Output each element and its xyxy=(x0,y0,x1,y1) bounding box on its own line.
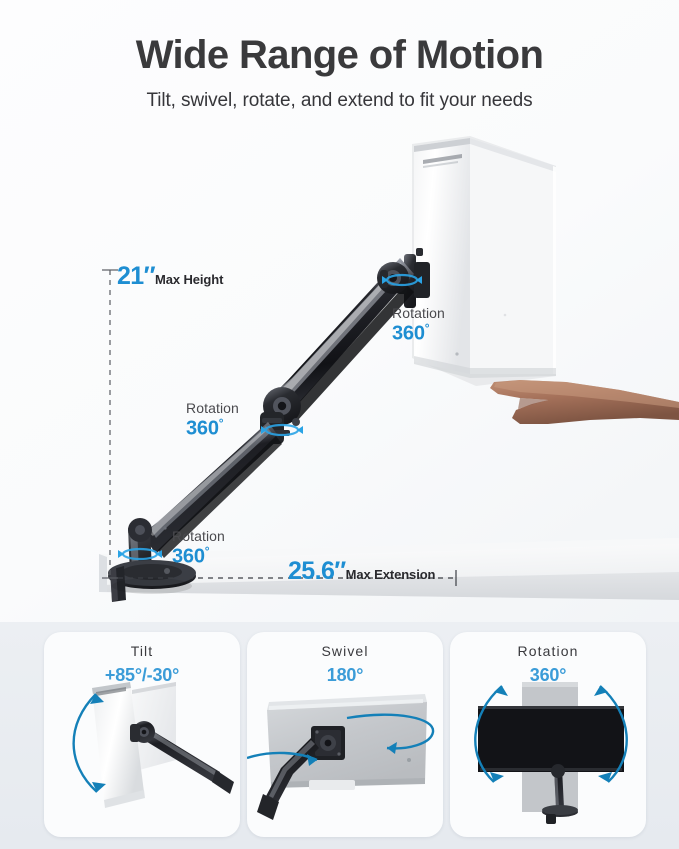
height-dimension-line xyxy=(102,270,118,578)
product-infographic: Wide Range of Motion Tilt, swivel, rotat… xyxy=(0,0,679,849)
callout-value: 360° xyxy=(172,545,225,567)
tilt-illustration xyxy=(44,632,240,837)
supporting-hand xyxy=(490,380,679,424)
callout-label: Rotation xyxy=(392,306,445,320)
callout-rotation-vesa: Rotation 360° xyxy=(392,306,445,344)
feature-card-tilt[interactable]: Tilt +85°/-30° xyxy=(44,632,240,837)
max-extension-quote: ″ xyxy=(334,557,345,585)
max-height-unit: Max Height xyxy=(155,272,223,287)
callout-label: Rotation xyxy=(186,401,239,415)
rotation-illustration xyxy=(450,632,646,837)
hero-illustration xyxy=(0,130,679,620)
feature-card-rotation[interactable]: Rotation 360° xyxy=(450,632,646,837)
callout-rotation-base: Rotation 360° xyxy=(172,529,225,567)
max-height-label: 21″Max Height xyxy=(117,264,223,289)
callout-label: Rotation xyxy=(172,529,225,543)
page-subtitle: Tilt, swivel, rotate, and extend to fit … xyxy=(0,90,679,112)
feature-card-swivel[interactable]: Swivel 180° xyxy=(247,632,443,837)
upper-elbow-joint xyxy=(377,262,409,294)
feature-cards: Tilt +85°/-30° xyxy=(0,622,679,849)
swivel-illustration xyxy=(247,632,443,837)
max-extension-label: 25.6″Max Extension xyxy=(288,559,435,584)
max-height-value: 21 xyxy=(117,262,144,290)
callout-value: 360° xyxy=(392,322,445,344)
callout-rotation-elbow: Rotation 360° xyxy=(186,401,239,439)
callout-value: 360° xyxy=(186,417,239,439)
max-height-quote: ″ xyxy=(144,262,155,290)
page-title: Wide Range of Motion xyxy=(0,34,679,76)
max-extension-unit: Max Extension xyxy=(346,567,436,582)
monitor-panel xyxy=(412,136,556,386)
max-extension-value: 25.6 xyxy=(288,557,334,585)
header: Wide Range of Motion Tilt, swivel, rotat… xyxy=(0,34,679,112)
